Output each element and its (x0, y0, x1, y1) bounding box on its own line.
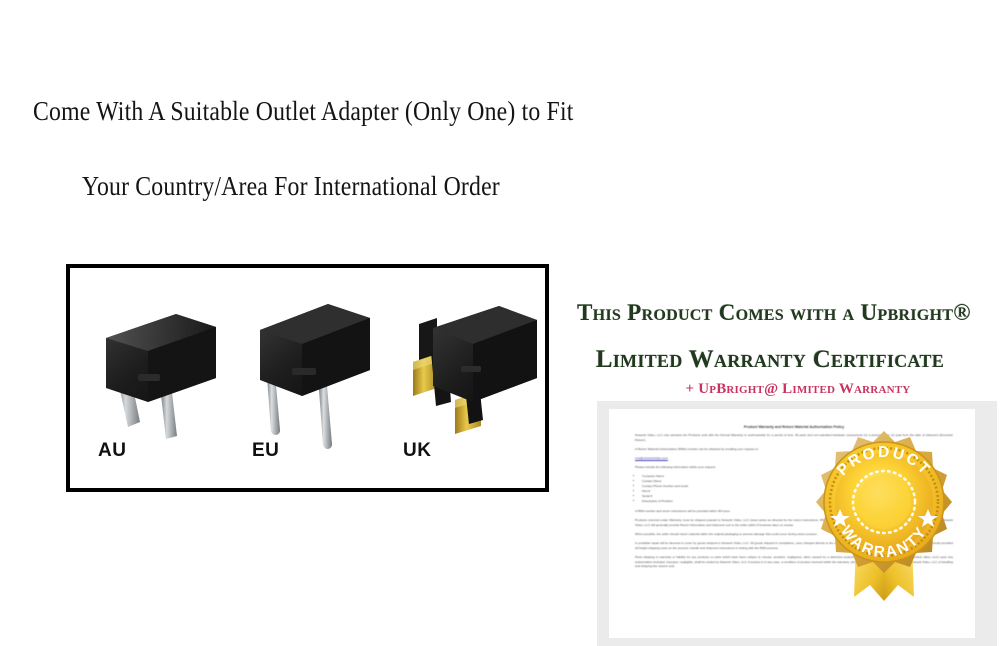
headline-line-2: Your Country/Area For International Orde… (82, 171, 617, 202)
promo-headline-2: Limited Warranty Certificate (540, 346, 1000, 374)
plug-label-eu: EU (252, 440, 279, 462)
promo-headline-1: This Product Comes with a Upbright® (548, 300, 1000, 326)
plug-item-eu: EU (252, 284, 382, 462)
australia-plug-icon (98, 294, 228, 462)
plug-label-au: AU (98, 440, 126, 462)
headline-block: Come With A Suitable Outlet Adapter (Onl… (0, 96, 690, 202)
warranty-section: This Product Comes with a Upbright® Limi… (530, 300, 1000, 646)
certificate-page: Product Warranty and Return Material Aut… (609, 409, 975, 638)
plug-row: AU (70, 268, 545, 488)
plug-label-uk: UK (403, 440, 431, 462)
uk-plug-icon (403, 292, 543, 462)
headline-line-1: Come With A Suitable Outlet Adapter (Onl… (33, 96, 611, 127)
product-warranty-seal: PRODUCT WARRANTY (804, 425, 964, 625)
certificate-panel: Product Warranty and Return Material Aut… (597, 401, 997, 646)
plug-item-au: AU (98, 294, 228, 462)
promo-subline: + UpBright@ Limited Warranty (596, 381, 1000, 398)
plug-item-uk: UK (403, 292, 543, 462)
europe-plug-icon (252, 284, 382, 462)
adapter-options-box: AU (66, 264, 549, 492)
